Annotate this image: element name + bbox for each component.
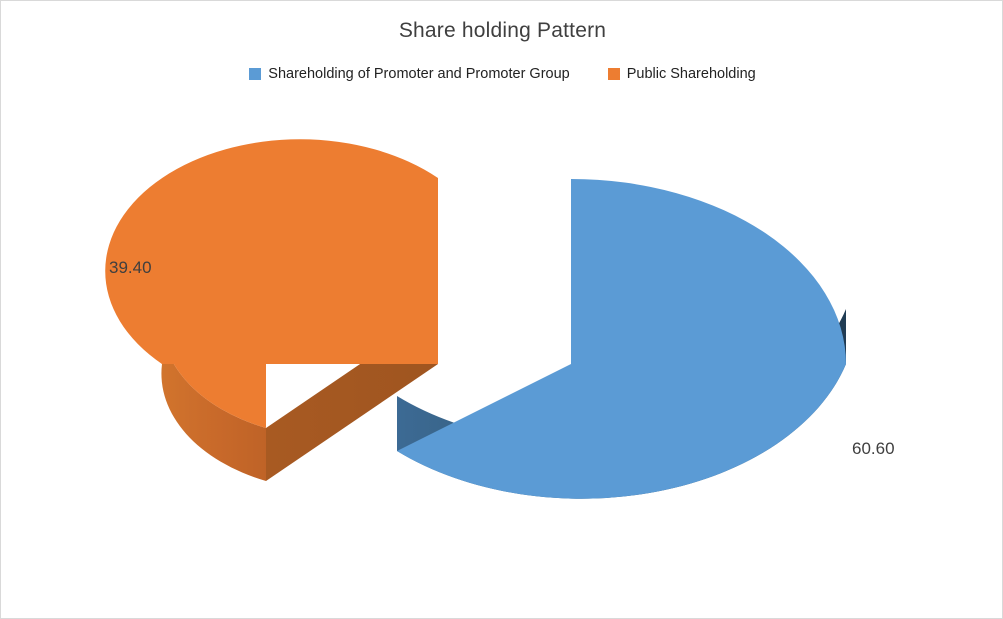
pie-slice-promoter[interactable] [397, 179, 846, 499]
pie-chart-graphic [1, 1, 1003, 619]
pie-slice-public[interactable] [105, 139, 438, 481]
pie-slice-public-top-final [105, 139, 438, 364]
chart-canvas: Share holding Pattern Shareholding of Pr… [0, 0, 1003, 619]
data-label-promoter-shareholding: 60.60 [852, 440, 895, 457]
pie-slice-promoter-top [397, 179, 846, 499]
data-label-public-shareholding: 39.40 [109, 259, 152, 276]
